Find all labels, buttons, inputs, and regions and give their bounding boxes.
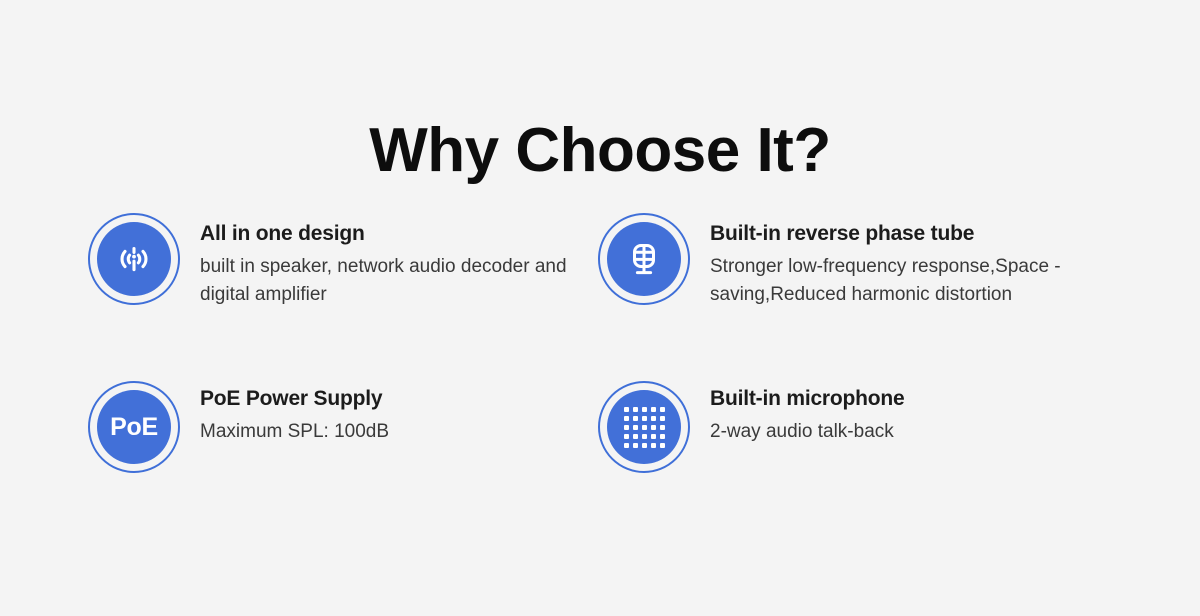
feature-text: Built-in microphone 2-way audio talk-bac… [710, 378, 905, 446]
icon-disc [607, 390, 681, 464]
feature-title: PoE Power Supply [200, 386, 389, 412]
feature-description: Stronger low-frequency response,Space -s… [710, 253, 1108, 308]
feature-description: built in speaker, network audio decoder … [200, 253, 598, 308]
feature-text: PoE Power Supply Maximum SPL: 100dB [200, 378, 389, 446]
why-choose-it-section: Why Choose It? [0, 0, 1200, 616]
feature-grid: All in one design built in speaker, netw… [88, 213, 1128, 543]
icon-disc [607, 222, 681, 296]
feature-title: All in one design [200, 221, 598, 247]
icon-disc: PoE [97, 390, 171, 464]
dot-grid [624, 407, 665, 448]
feature-description: 2-way audio talk-back [710, 418, 905, 446]
feature-item-reverse-phase-tube: Built-in reverse phase tube Stronger low… [598, 213, 1108, 378]
icon-disc [97, 222, 171, 296]
feature-text: Built-in reverse phase tube Stronger low… [710, 213, 1108, 308]
broadcast-signal-icon [88, 213, 180, 305]
feature-item-all-in-one-design: All in one design built in speaker, netw… [88, 213, 598, 378]
page-title: Why Choose It? [0, 120, 1200, 182]
reverse-phase-tube-icon [598, 213, 690, 305]
feature-description: Maximum SPL: 100dB [200, 418, 389, 446]
feature-title: Built-in reverse phase tube [710, 221, 1108, 247]
poe-label: PoE [110, 415, 158, 440]
feature-title: Built-in microphone [710, 386, 905, 412]
feature-item-built-in-microphone: Built-in microphone 2-way audio talk-bac… [598, 378, 1108, 543]
microphone-grille-dots-icon [598, 381, 690, 473]
poe-text-icon: PoE [88, 381, 180, 473]
feature-text: All in one design built in speaker, netw… [200, 213, 598, 308]
feature-item-poe-power-supply: PoE PoE Power Supply Maximum SPL: 100dB [88, 378, 598, 543]
